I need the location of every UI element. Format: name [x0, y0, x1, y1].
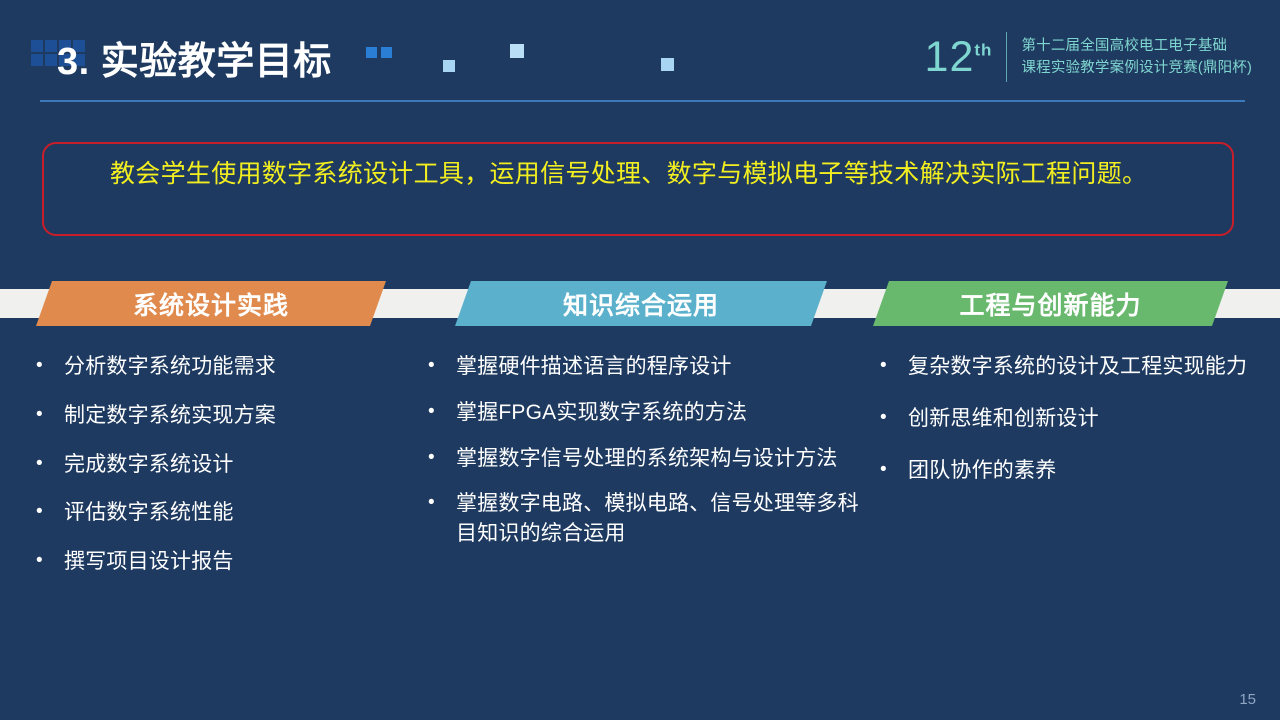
slide-header: 3. 实验教学目标 12th 第十二届全国高校电工电子基础 课程实验教学案例设计…: [0, 0, 1280, 104]
bullet-marker: •: [872, 456, 908, 485]
pixel-square: [45, 40, 57, 52]
list-item: • 掌握数字信号处理的系统架构与设计方法: [420, 444, 860, 474]
objective-callout-text: 教会学生使用数字系统设计工具，运用信号处理、数字与模拟电子等技术解决实际工程问题…: [58, 156, 1216, 192]
header-divider: [40, 100, 1245, 102]
bullet-marker: •: [28, 498, 64, 527]
logo-number-text: 12: [925, 33, 975, 81]
bullet-marker: •: [28, 352, 64, 381]
competition-logo: 12th 第十二届全国高校电工电子基础 课程实验教学案例设计竞赛(鼎阳杯): [925, 28, 1252, 86]
bullet-marker: •: [872, 352, 908, 381]
list-item: • 掌握数字电路、模拟电路、信号处理等多科目知识的综合运用: [420, 489, 860, 549]
decorative-square: [443, 60, 455, 72]
column-banner-label: 知识综合运用: [563, 286, 719, 322]
list-item: • 评估数字系统性能: [28, 498, 408, 528]
bullet-marker: •: [420, 398, 456, 427]
column-banner-label: 系统设计实践: [133, 286, 289, 322]
list-item-text: 评估数字系统性能: [64, 498, 408, 528]
column-banner-label: 工程与创新能力: [959, 286, 1141, 322]
logo-line-2: 课程实验教学案例设计竞赛(鼎阳杯): [1021, 60, 1252, 77]
logo-text-block: 第十二届全国高校电工电子基础 课程实验教学案例设计竞赛(鼎阳杯): [1021, 38, 1252, 76]
logo-edition-number: 12th: [925, 36, 997, 79]
list-item-text: 掌握硬件描述语言的程序设计: [456, 352, 860, 382]
decorative-square: [366, 47, 377, 58]
bullet-marker: •: [28, 401, 64, 430]
list-item: • 分析数字系统功能需求: [28, 352, 408, 382]
logo-ordinal-suffix: th: [974, 40, 992, 59]
decorative-square: [661, 58, 674, 71]
list-item: • 掌握FPGA实现数字系统的方法: [420, 398, 860, 428]
list-item-text: 掌握数字信号处理的系统架构与设计方法: [456, 444, 860, 474]
bullet-marker: •: [420, 489, 456, 518]
slide-root: 3. 实验教学目标 12th 第十二届全国高校电工电子基础 课程实验教学案例设计…: [0, 0, 1280, 720]
list-item: • 完成数字系统设计: [28, 450, 408, 480]
list-item: • 创新思维和创新设计: [872, 404, 1262, 434]
logo-line-1: 第十二届全国高校电工电子基础: [1021, 38, 1252, 55]
objective-callout-box: 教会学生使用数字系统设计工具，运用信号处理、数字与模拟电子等技术解决实际工程问题…: [42, 142, 1234, 236]
decorative-square: [381, 47, 392, 58]
list-item: • 制定数字系统实现方案: [28, 401, 408, 431]
decorative-square: [510, 44, 524, 58]
page-number: 15: [1239, 691, 1256, 708]
bullet-marker: •: [420, 444, 456, 473]
bullet-marker: •: [872, 404, 908, 433]
column-knowledge-application: • 掌握硬件描述语言的程序设计 • 掌握FPGA实现数字系统的方法 • 掌握数字…: [420, 352, 860, 565]
pixel-square: [45, 54, 57, 66]
bullet-marker: •: [420, 352, 456, 381]
column-system-design: • 分析数字系统功能需求 • 制定数字系统实现方案 • 完成数字系统设计 • 评…: [28, 352, 408, 596]
list-item: • 撰写项目设计报告: [28, 547, 408, 577]
list-item: • 掌握硬件描述语言的程序设计: [420, 352, 860, 382]
list-item-text: 制定数字系统实现方案: [64, 401, 408, 431]
column-banner-system-design: 系统设计实践: [36, 281, 386, 326]
list-item-text: 掌握数字电路、模拟电路、信号处理等多科目知识的综合运用: [456, 489, 860, 549]
column-banner-engineering-innovation: 工程与创新能力: [873, 281, 1228, 326]
list-item-text: 团队协作的素养: [908, 456, 1262, 486]
list-item-text: 掌握FPGA实现数字系统的方法: [456, 398, 860, 428]
list-item-text: 复杂数字系统的设计及工程实现能力: [908, 352, 1262, 382]
list-item-text: 创新思维和创新设计: [908, 404, 1262, 434]
logo-separator: [1006, 32, 1007, 82]
column-banner-knowledge-application: 知识综合运用: [455, 281, 827, 326]
bullet-marker: •: [28, 547, 64, 576]
list-item: • 团队协作的素养: [872, 456, 1262, 486]
list-item: • 复杂数字系统的设计及工程实现能力: [872, 352, 1262, 382]
page-title: 3. 实验教学目标: [57, 30, 332, 85]
pixel-square: [31, 54, 43, 66]
list-item-text: 完成数字系统设计: [64, 450, 408, 480]
column-engineering-innovation: • 复杂数字系统的设计及工程实现能力 • 创新思维和创新设计 • 团队协作的素养: [872, 352, 1262, 507]
pixel-square: [31, 40, 43, 52]
list-item-text: 分析数字系统功能需求: [64, 352, 408, 382]
bullet-marker: •: [28, 450, 64, 479]
list-item-text: 撰写项目设计报告: [64, 547, 408, 577]
